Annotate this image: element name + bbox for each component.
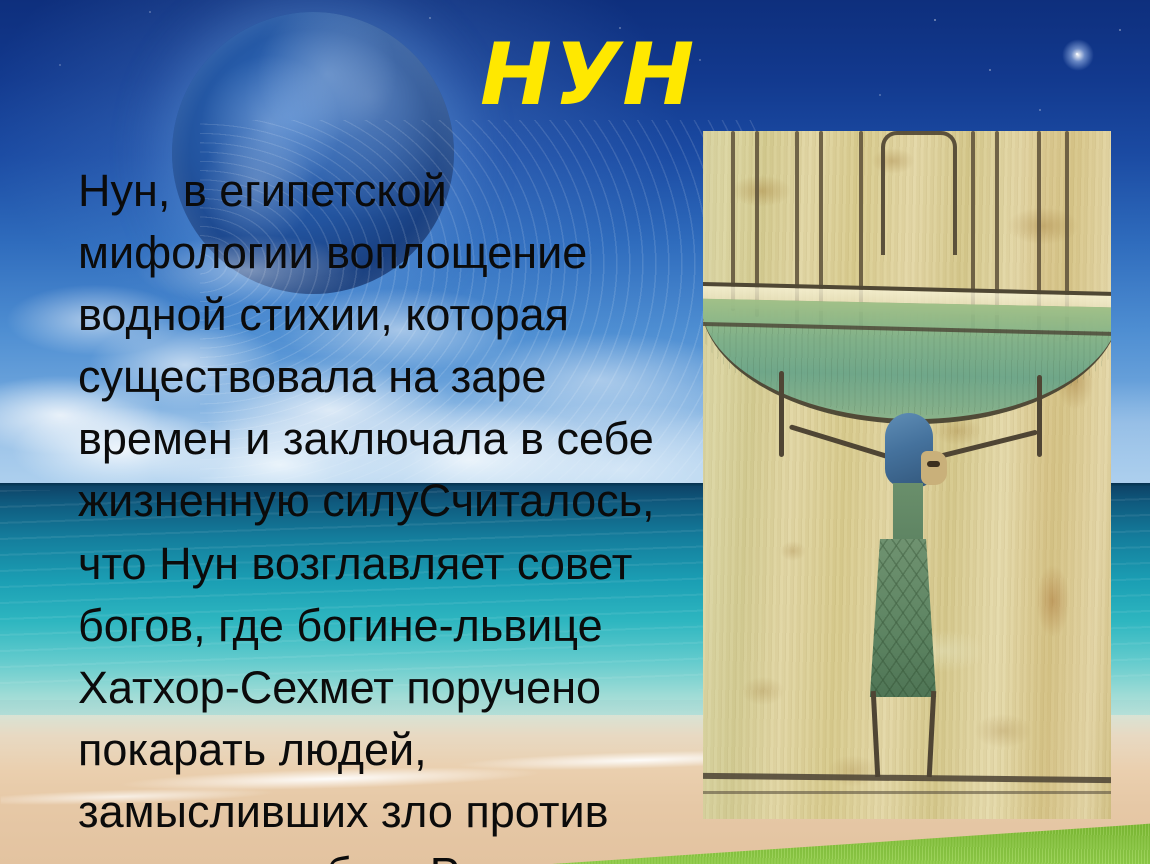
papyrus-illustration (703, 131, 1111, 819)
papyrus-arch-glyph (881, 131, 957, 255)
presentation-slide: НУН Нун, в египетской мифологии воплощен… (0, 0, 1150, 864)
nun-face (921, 451, 947, 485)
nun-forearm-left (779, 371, 784, 457)
nun-torso (893, 483, 923, 547)
nun-forearm-right (1037, 375, 1042, 457)
papyrus-ground-line-secondary (703, 791, 1111, 794)
body-paragraph: Нун, в египетской мифологии воплощение в… (78, 160, 678, 864)
page-title: НУН (480, 32, 696, 118)
nun-eye (927, 461, 940, 467)
body-text-block: Нун, в египетской мифологии воплощение в… (78, 160, 678, 864)
bright-star-icon (1062, 39, 1094, 71)
